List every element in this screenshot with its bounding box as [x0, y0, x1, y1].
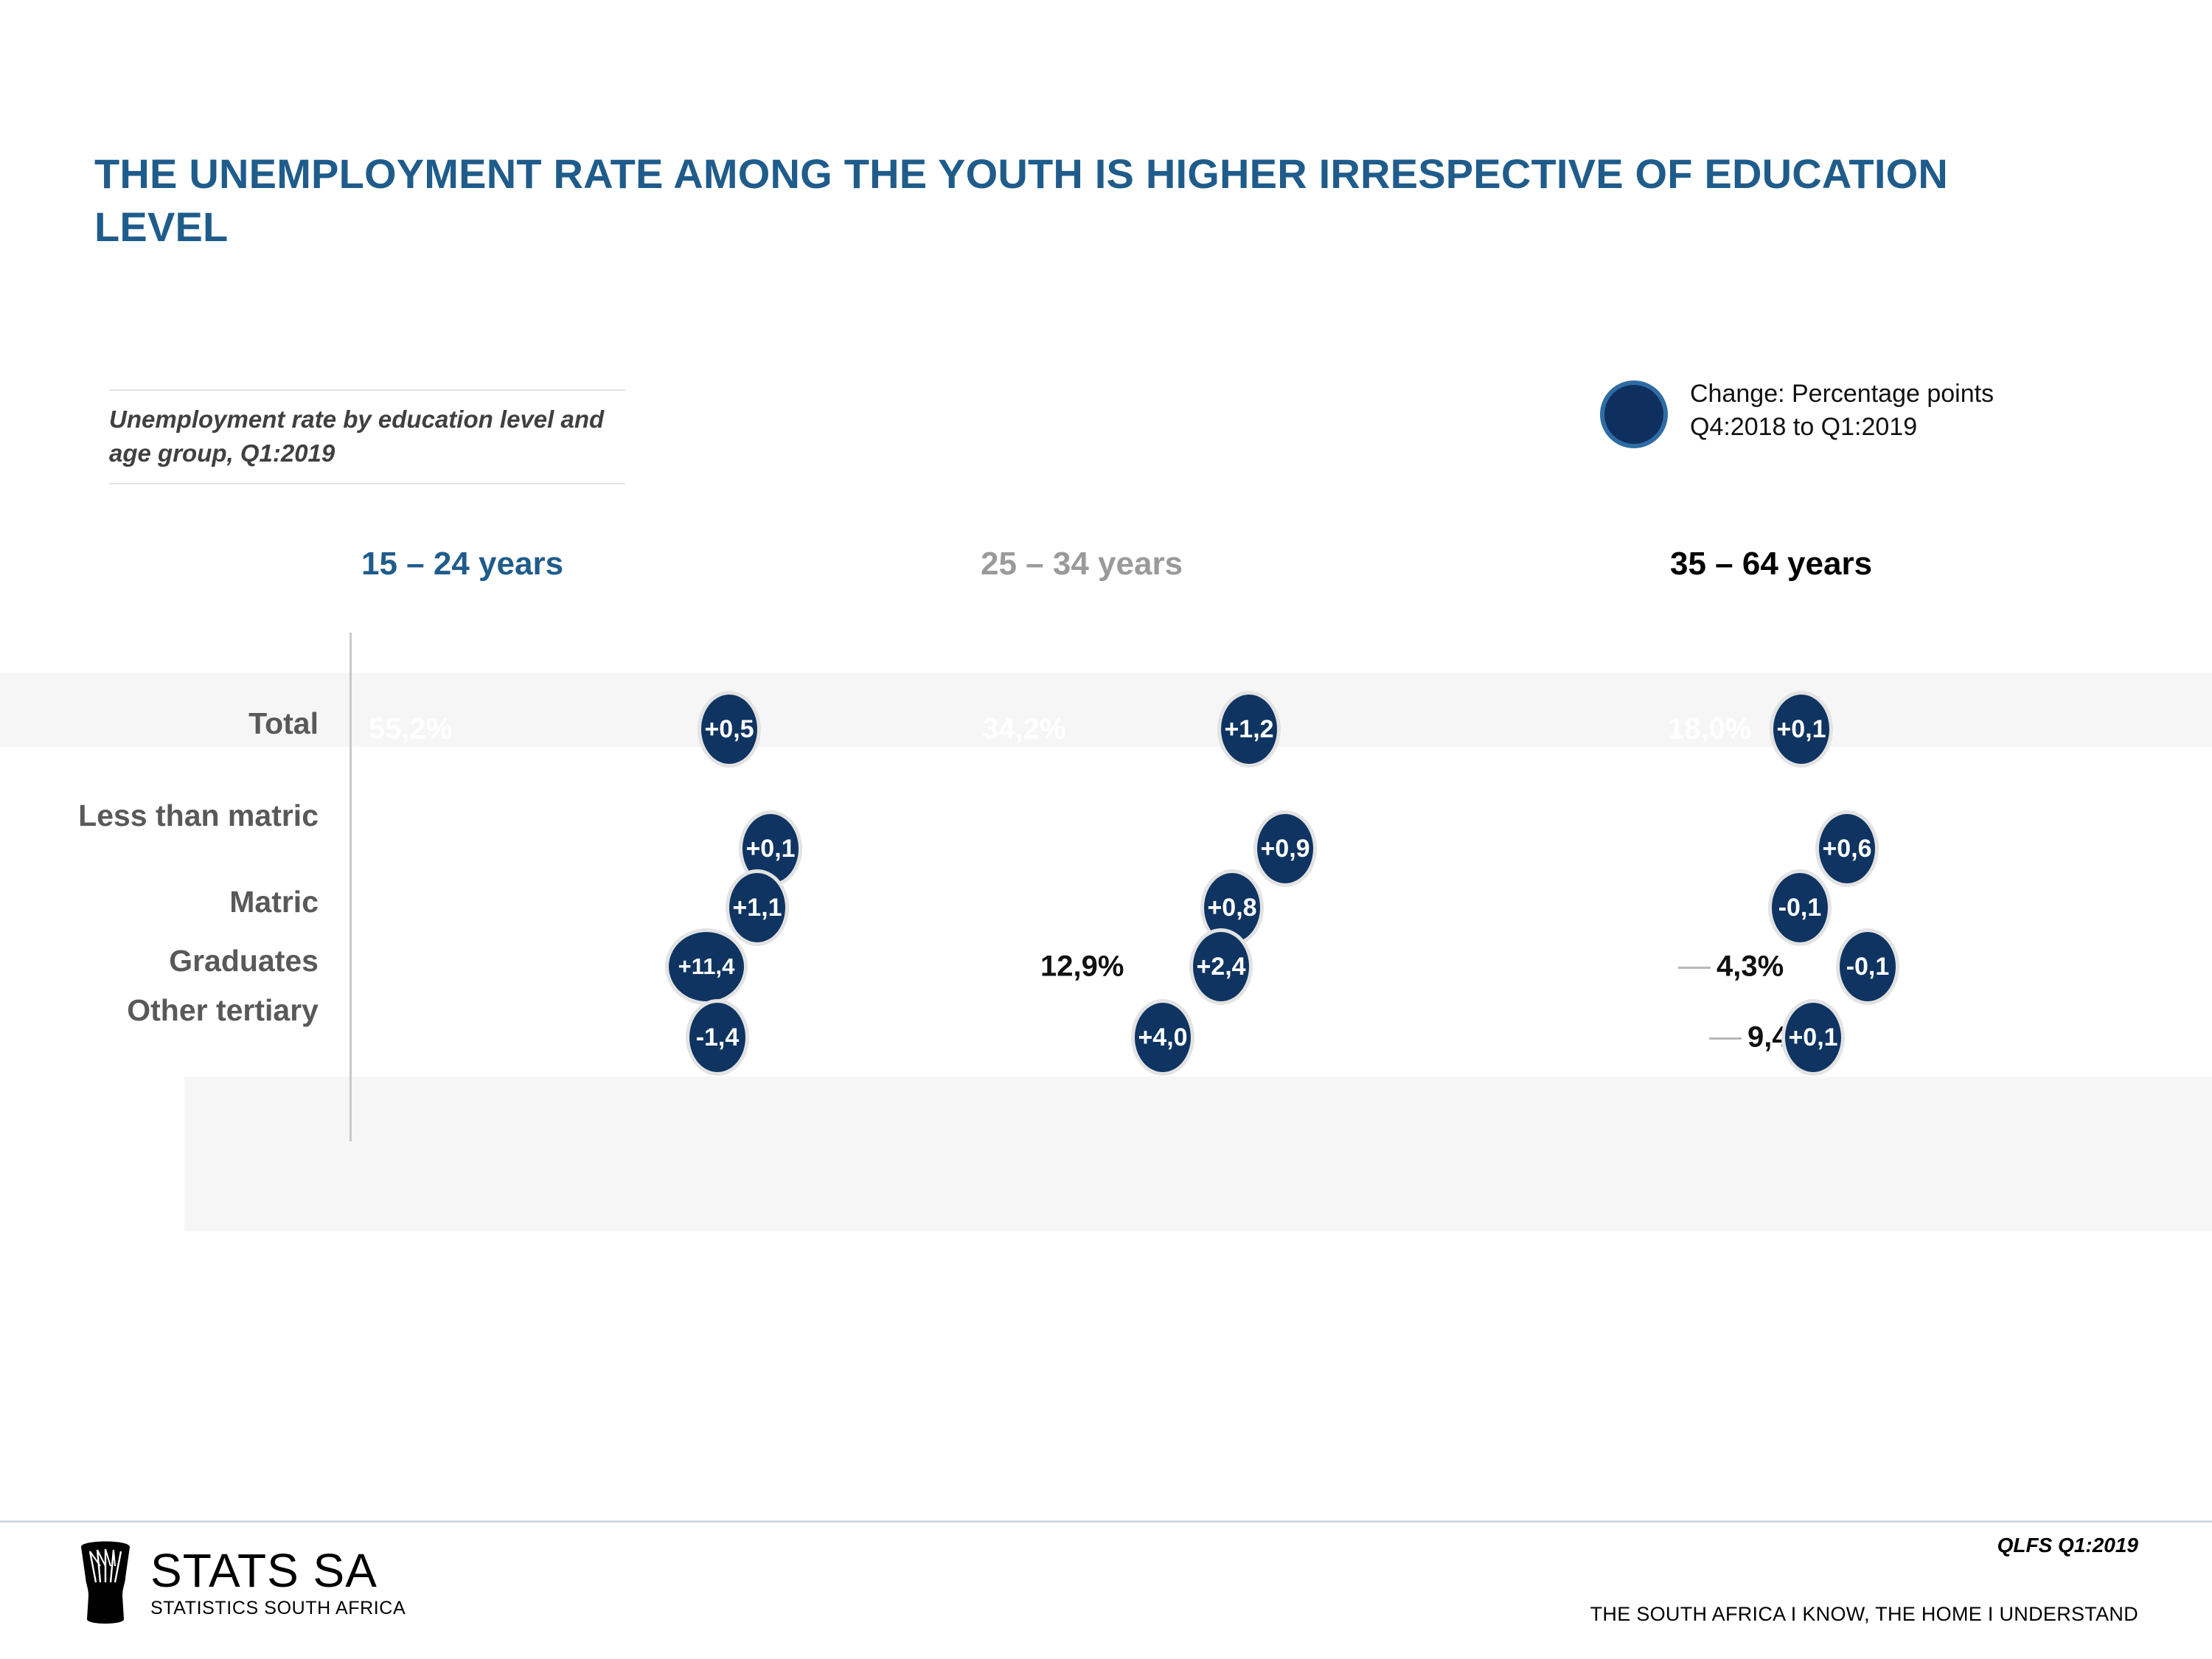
- change-bubble: +0,5: [698, 691, 761, 768]
- row-label-matric: Matric: [229, 886, 319, 919]
- bar: 41,0%: [966, 820, 1218, 877]
- footer-tagline: THE SOUTH AFRICA I KNOW, THE HOME I UNDE…: [1590, 1603, 2138, 1626]
- bar: 9,4%: [1652, 1009, 1709, 1066]
- bar-value-label: 47,5%: [369, 1021, 452, 1054]
- leader-line: [1678, 967, 1711, 969]
- bar-value-label: 55,0%: [369, 891, 452, 925]
- bar: 17,0%: [1652, 879, 1756, 936]
- bar: 18,0%: [1652, 702, 1762, 757]
- change-bubble: +1,2: [1217, 691, 1281, 768]
- bar: 4,3%: [1652, 936, 1678, 997]
- chart-area: 15 – 24 years 25 – 34 years 35 – 64 year…: [0, 546, 2212, 1430]
- change-bubble: +2,4: [1189, 928, 1253, 1005]
- change-bubble: +1,1: [726, 869, 789, 946]
- bar-value-label: 41,0%: [982, 832, 1065, 866]
- bar-value-label: 17,0%: [1668, 891, 1751, 925]
- stats-sa-logo: STATS SA STATISTICS SOUTH AFRICA: [74, 1537, 406, 1628]
- change-bubble: +0,6: [1815, 810, 1879, 887]
- logo-name: STATS SA: [150, 1547, 406, 1594]
- bar-value-label: 55,2%: [369, 713, 452, 746]
- djembe-drum-icon: [74, 1537, 137, 1628]
- bar: 34,2%: [966, 702, 1176, 757]
- bar-value-label: 23,3%: [1668, 832, 1751, 866]
- slide: THE UNEMPLOYMENT RATE AMONG THE YOUTH IS…: [0, 0, 2212, 1659]
- row-label-total: Total: [248, 707, 319, 741]
- bar-value-label: 4,3%: [1717, 950, 1784, 984]
- page-title: THE UNEMPLOYMENT RATE AMONG THE YOUTH IS…: [94, 147, 2085, 253]
- change-bubble: +0,1: [1781, 999, 1845, 1076]
- change-bubble: -0,1: [1836, 928, 1899, 1005]
- footer-source: QLFS Q1:2019: [1997, 1534, 2138, 1557]
- footer: STATS SA STATISTICS SOUTH AFRICA QLFS Q1…: [0, 1520, 2212, 1659]
- bar: 31,0%: [352, 936, 543, 997]
- bar-value-label: 12,9%: [1040, 950, 1124, 984]
- change-bubble: -1,4: [686, 999, 749, 1076]
- logo-subtitle: STATISTICS SOUTH AFRICA: [150, 1599, 406, 1618]
- axis-line: [349, 633, 352, 1141]
- column-header-25-34: 25 – 34 years: [981, 546, 1183, 582]
- bar-value-label: 58,4%: [369, 832, 452, 866]
- row-label-other-tertiary: Other tertiary: [127, 994, 319, 1028]
- bar: 12,9%: [966, 936, 1045, 997]
- column-header-35-64: 35 – 64 years: [1670, 546, 1872, 582]
- change-bubble: +11,4: [665, 928, 748, 1005]
- change-bubble: +0,1: [1770, 691, 1833, 768]
- logo-wordmark: STATS SA STATISTICS SOUTH AFRICA: [150, 1547, 406, 1618]
- bar-value-label: 25,2%: [982, 1021, 1065, 1054]
- change-bubble: -0,1: [1768, 869, 1832, 946]
- chart-subtitle: Unemployment rate by education level and…: [109, 403, 625, 470]
- bar-value-label: 31,0%: [369, 950, 452, 984]
- legend-label: Change: Percentage points Q4:2018 to Q1:…: [1690, 378, 1994, 444]
- bar: 58,4%: [352, 820, 711, 877]
- legend: Change: Percentage points Q4:2018 to Q1:…: [1600, 378, 1994, 448]
- column-header-15-24: 15 – 24 years: [361, 546, 563, 582]
- bar: 55,2%: [352, 702, 692, 757]
- change-bubble: +0,9: [1253, 810, 1317, 887]
- bar: 25,2%: [966, 1009, 1121, 1066]
- row-label-graduates: Graduates: [169, 945, 319, 978]
- bar: 47,5%: [352, 1009, 644, 1066]
- bar: 32,4%: [966, 879, 1165, 936]
- bar: 55,0%: [352, 879, 690, 936]
- bar-value-label: 34,2%: [982, 713, 1065, 746]
- bar: 23,3%: [1652, 820, 1795, 877]
- leader-line: [1709, 1037, 1742, 1040]
- subtitle-box: Unemployment rate by education level and…: [109, 389, 625, 484]
- row-label-less-than-matric: Less than matric: [78, 799, 319, 833]
- change-bubble: +4,0: [1131, 999, 1194, 1076]
- bar-value-label: 32,4%: [982, 891, 1065, 925]
- change-bubble-icon: [1600, 380, 1668, 448]
- bar-value-label: 18,0%: [1668, 713, 1751, 746]
